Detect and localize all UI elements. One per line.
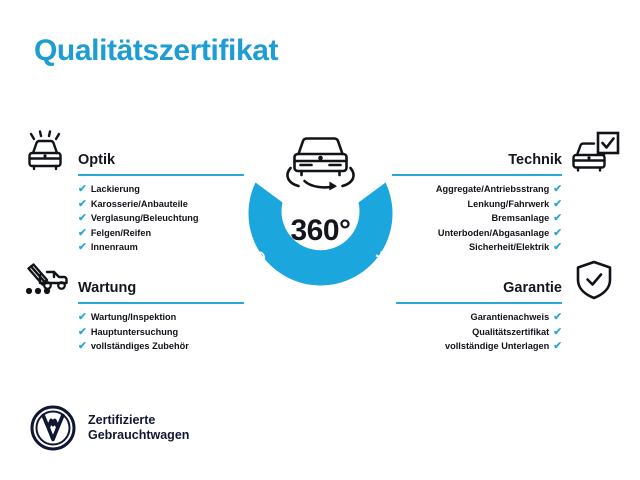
check-icon: ✔ [78, 182, 87, 197]
list-item: ✔Verglasung/Beleuchtung [78, 211, 199, 226]
section-header: Technik [396, 130, 620, 176]
footer-line-1: Zertifizierte [88, 413, 155, 427]
section-optik: Optik ✔Lackierung ✔Karosserie/Anbauteile… [20, 130, 244, 176]
list-item-label: Lackierung [91, 184, 140, 194]
list-item-label: Innenraum [91, 242, 138, 252]
badge-degrees: 360° [228, 214, 413, 248]
check-icon: ✔ [78, 226, 87, 241]
list-item-label: Sicherheit/Elektrik [469, 242, 549, 252]
footer-brand: Zertifizierte Gebrauchtwagen [30, 405, 189, 451]
check-icon: ✔ [553, 226, 562, 241]
section-divider [392, 174, 562, 176]
list-item-label: Garantienachweis [471, 312, 550, 322]
check-icon: ✔ [553, 325, 562, 340]
check-icon: ✔ [78, 240, 87, 255]
list-item: Garantienachweis✔ [445, 310, 562, 325]
footer-label: Zertifizierte Gebrauchtwagen [88, 413, 189, 443]
car-shine-icon [20, 130, 72, 174]
list-item-label: Wartung/Inspektion [91, 312, 176, 322]
list-item: Sicherheit/Elektrik✔ [436, 240, 562, 255]
check-icon: ✔ [553, 310, 562, 325]
vw-logo [30, 405, 76, 451]
section-wartung: Wartung ✔Wartung/Inspektion ✔Hauptunters… [20, 258, 244, 304]
checklist-technik: Aggregate/Antriebsstrang✔ Lenkung/Fahrwe… [436, 182, 562, 255]
list-item-label: Hauptuntersuchung [91, 327, 178, 337]
shield-check-icon [568, 258, 620, 302]
page-title: Qualitätszertifikat [34, 34, 278, 68]
section-divider [78, 174, 244, 176]
list-item-label: Felgen/Reifen [91, 228, 151, 238]
check-icon: ✔ [553, 339, 562, 354]
checklist-wartung: ✔Wartung/Inspektion ✔Hauptuntersuchung ✔… [78, 310, 189, 354]
section-title-technik: Technik [508, 152, 562, 168]
list-item: ✔Innenraum [78, 240, 199, 255]
list-item: Unterboden/Abgasanlage✔ [436, 226, 562, 241]
car-checkbox-icon [568, 130, 620, 174]
list-item: ✔Wartung/Inspektion [78, 310, 189, 325]
section-title-wartung: Wartung [78, 280, 136, 296]
list-item-label: Karosserie/Anbauteile [91, 199, 188, 209]
list-item: ✔Hauptuntersuchung [78, 325, 189, 340]
check-icon: ✔ [78, 325, 87, 340]
check-icon: ✔ [78, 339, 87, 354]
check-icon: ✔ [553, 182, 562, 197]
section-header: Garantie [396, 258, 620, 304]
list-item-label: Aggregate/Antriebsstrang [436, 184, 549, 194]
section-garantie: Garantie Garantienachweis✔ Qualitätszert… [396, 258, 620, 304]
list-item: Lenkung/Fahrwerk✔ [436, 197, 562, 212]
list-item-label: Qualitätszertifikat [472, 327, 549, 337]
list-item: vollständige Unterlagen✔ [445, 339, 562, 354]
check-icon: ✔ [78, 197, 87, 212]
list-item-label: Verglasung/Beleuchtung [91, 213, 199, 223]
check-icon: ✔ [553, 197, 562, 212]
section-divider [78, 302, 244, 304]
list-item-label: Unterboden/Abgasanlage [438, 228, 549, 238]
list-item: ✔Lackierung [78, 182, 199, 197]
certificate-page: Qualitätszertifikat [0, 0, 640, 480]
checklist-optik: ✔Lackierung ✔Karosserie/Anbauteile ✔Verg… [78, 182, 199, 255]
list-item: ✔Felgen/Reifen [78, 226, 199, 241]
section-header: Wartung [20, 258, 244, 304]
checklist-garantie: Garantienachweis✔ Qualitätszertifikat✔ v… [445, 310, 562, 354]
list-item-label: vollständiges Zubehör [91, 341, 189, 351]
section-title-optik: Optik [78, 152, 115, 168]
list-item: Qualitätszertifikat✔ [445, 325, 562, 340]
360-check-badge: Gebrauchtwagen-Check 360° [228, 118, 413, 313]
list-item-label: vollständige Unterlagen [445, 341, 549, 351]
list-item: ✔Karosserie/Anbauteile [78, 197, 199, 212]
check-icon: ✔ [553, 240, 562, 255]
check-icon: ✔ [78, 310, 87, 325]
section-divider [396, 302, 562, 304]
list-item-label: Bremsanlage [491, 213, 549, 223]
car-service-pen-icon [20, 258, 72, 302]
list-item: Bremsanlage✔ [436, 211, 562, 226]
check-icon: ✔ [78, 211, 87, 226]
section-technik: Technik Aggregate/Antriebsstrang✔ Lenkun… [396, 130, 620, 176]
list-item-label: Lenkung/Fahrwerk [468, 199, 550, 209]
footer-line-2: Gebrauchtwagen [88, 428, 189, 442]
check-icon: ✔ [553, 211, 562, 226]
car-rotate-icon [287, 139, 353, 191]
section-title-garantie: Garantie [503, 280, 562, 296]
section-header: Optik [20, 130, 244, 176]
list-item: Aggregate/Antriebsstrang✔ [436, 182, 562, 197]
list-item: ✔vollständiges Zubehör [78, 339, 189, 354]
